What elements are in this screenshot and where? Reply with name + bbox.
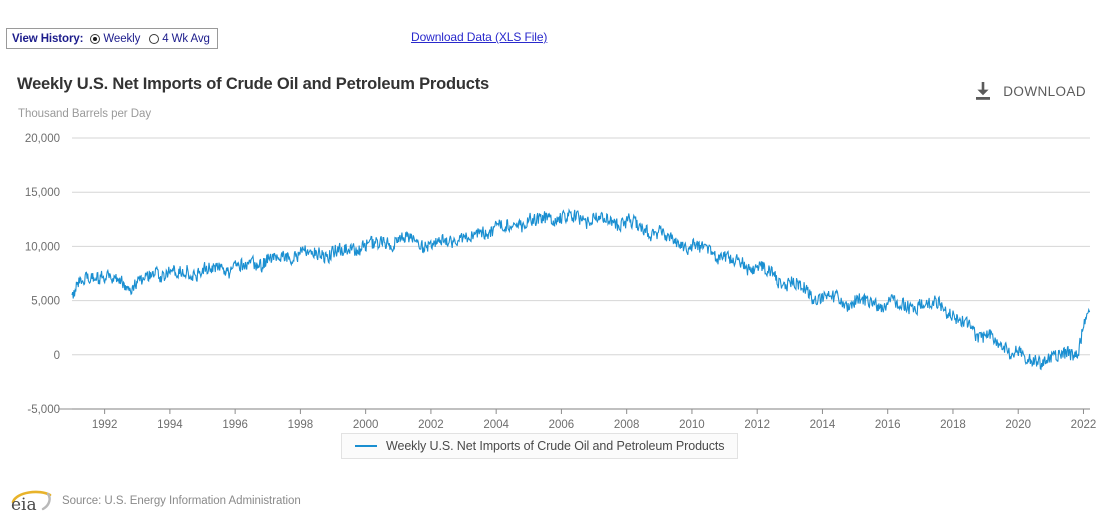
y-axis-tick-label: -5,000: [27, 404, 60, 416]
x-axis-tick-label: 1992: [92, 419, 118, 430]
radio-button-weekly-icon[interactable]: [90, 34, 100, 44]
source-attribution: Source: U.S. Energy Information Administ…: [62, 495, 301, 507]
y-axis-tick-label: 20,000: [25, 133, 60, 145]
chart-title: Weekly U.S. Net Imports of Crude Oil and…: [17, 75, 489, 94]
x-axis-tick-label: 2002: [418, 419, 444, 430]
x-axis: [58, 409, 1090, 414]
x-axis-tick-label: 2010: [679, 419, 705, 430]
x-axis-tick-label: 2004: [483, 419, 509, 430]
download-icon: [972, 80, 994, 102]
x-axis-tick-label: 2016: [875, 419, 901, 430]
x-axis-tick-labels: 1992199419961998200020022004200620082010…: [92, 419, 1096, 430]
y-axis-tick-label: 5,000: [31, 296, 60, 308]
chart-footer: eia Source: U.S. Energy Information Admi…: [0, 483, 1110, 518]
radio-option-weekly[interactable]: Weekly: [90, 33, 140, 45]
svg-text:eia: eia: [11, 495, 37, 514]
view-history-control[interactable]: View History: Weekly 4 Wk Avg: [6, 28, 218, 49]
top-control-bar: View History: Weekly 4 Wk Avg Download D…: [0, 0, 1110, 56]
download-data-xls-link[interactable]: Download Data (XLS File): [411, 30, 547, 44]
x-axis-tick-label: 1996: [222, 419, 248, 430]
x-axis-tick-label: 1994: [157, 419, 183, 430]
download-button[interactable]: DOWNLOAD: [972, 80, 1086, 102]
series-line-net-imports: [72, 210, 1090, 369]
radio-button-4-wk-avg-icon[interactable]: [149, 34, 159, 44]
y-axis-tick-label: 15,000: [25, 187, 60, 199]
radio-label-weekly: Weekly: [103, 33, 140, 45]
y-axis-tick-label: 10,000: [25, 241, 60, 253]
x-axis-tick-label: 2018: [940, 419, 966, 430]
chart-subtitle-units: Thousand Barrels per Day: [18, 108, 151, 120]
y-axis-tick-labels: -5,00005,00010,00015,00020,000: [25, 133, 60, 416]
legend-entry-label: Weekly U.S. Net Imports of Crude Oil and…: [386, 439, 724, 453]
view-history-label: View History:: [12, 33, 83, 45]
y-axis-tick-label: 0: [54, 350, 60, 362]
download-button-label: DOWNLOAD: [1003, 84, 1086, 99]
x-axis-tick-label: 2008: [614, 419, 640, 430]
line-chart: -5,00005,00010,00015,00020,000 199219941…: [0, 120, 1110, 430]
legend-color-swatch-icon: [355, 445, 377, 447]
x-axis-tick-label: 2020: [1005, 419, 1031, 430]
eia-logo-icon: eia: [10, 488, 54, 514]
chart-plot-area: -5,00005,00010,00015,00020,000 199219941…: [0, 120, 1110, 430]
chart-legend[interactable]: Weekly U.S. Net Imports of Crude Oil and…: [341, 433, 738, 459]
x-axis-tick-label: 1998: [288, 419, 314, 430]
x-axis-tick-label: 2022: [1071, 419, 1097, 430]
radio-label-4-wk-avg: 4 Wk Avg: [162, 33, 210, 45]
x-axis-tick-label: 2000: [353, 419, 379, 430]
x-axis-tick-label: 2012: [744, 419, 770, 430]
x-axis-tick-label: 2014: [810, 419, 836, 430]
x-axis-tick-label: 2006: [549, 419, 575, 430]
radio-option-4-wk-avg[interactable]: 4 Wk Avg: [149, 33, 210, 45]
